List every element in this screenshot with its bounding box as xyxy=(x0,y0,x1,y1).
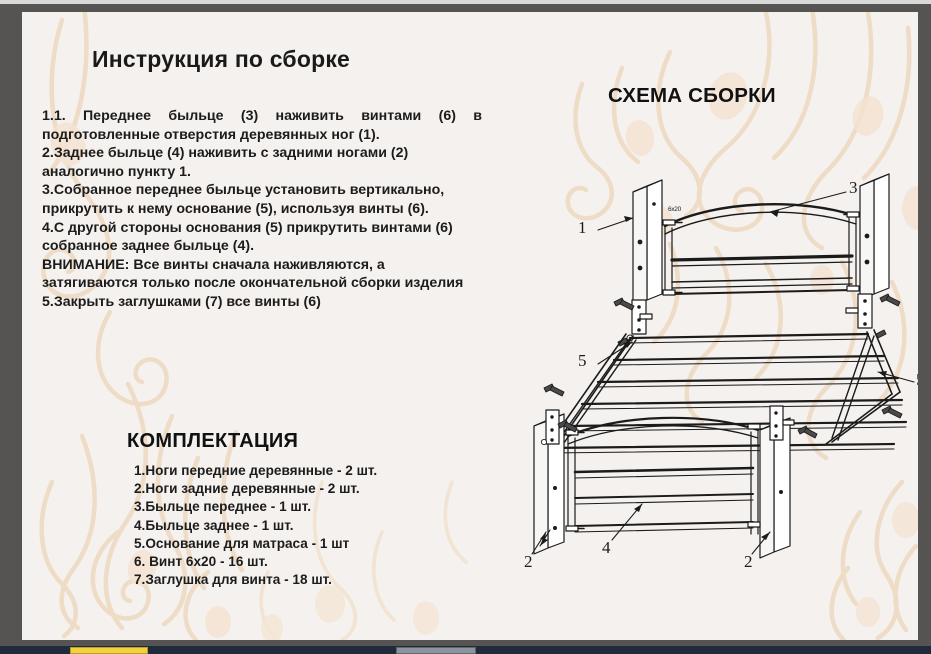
kit-item-3: 3.Быльце переднее - 1 шт. xyxy=(134,498,464,516)
base-frame-rails xyxy=(546,334,874,460)
callout-2-left: 2 xyxy=(524,552,533,572)
callout-leader-lines xyxy=(532,192,914,554)
kit-section-title: КОМПЛЕКТАЦИЯ xyxy=(127,430,298,453)
instruction-step-5: 5.Закрыть заглушками (7) все винты (6) xyxy=(42,293,482,312)
screen: Инструкция по сборке 1.1. Переднее быльц… xyxy=(0,0,931,654)
taskbar[interactable] xyxy=(0,646,931,654)
kit-item-1: 1.Ноги передние деревянные - 2 шт. xyxy=(134,462,464,480)
bracket-plate-head-right xyxy=(846,294,872,328)
headboard-panel-front xyxy=(665,204,856,294)
assembly-diagram: 1 3 5 5 2 4 2 6x20 xyxy=(502,142,918,562)
instruction-step-4: 4.С другой стороны основания (5) прикрут… xyxy=(42,219,482,256)
taskbar-item-window[interactable] xyxy=(396,647,476,654)
bed-assembly-drawing xyxy=(502,142,918,562)
leg-post-rear-right xyxy=(860,174,889,300)
kit-list: 1.Ноги передние деревянные - 2 шт. 2.Ног… xyxy=(134,462,464,589)
slide-page: Инструкция по сборке 1.1. Переднее быльц… xyxy=(22,12,918,640)
instruction-step-3: 3.Собранное переднее быльце установить в… xyxy=(42,181,482,218)
instructions-block: 1.1. Переднее быльце (3) наживить винтам… xyxy=(42,107,482,312)
kit-item-4: 4.Быльце заднее - 1 шт. xyxy=(134,517,464,535)
kit-item-5: 5.Основание для матраса - 1 шт xyxy=(134,535,464,553)
instruction-step-1: 1.1. Переднее быльце (3) наживить винтам… xyxy=(42,107,482,144)
footboard-panel xyxy=(568,418,758,534)
callout-3: 3 xyxy=(849,178,858,198)
instruction-step-2: 2.Заднее быльце (4) наживить с задними н… xyxy=(42,144,482,181)
kit-item-2: 2.Ноги задние деревянные - 2 шт. xyxy=(134,480,464,498)
callout-5-right: 5 xyxy=(916,370,918,390)
callout-1: 1 xyxy=(578,218,587,238)
callout-2-right: 2 xyxy=(744,552,753,572)
taskbar-item-active[interactable] xyxy=(70,647,148,654)
bracket-plate-head-left xyxy=(632,300,652,334)
screw-size-label: 6x20 xyxy=(668,206,681,213)
scheme-title: СХЕМА СБОРКИ xyxy=(608,84,776,108)
kit-item-7: 7.Заглушка для винта - 18 шт. xyxy=(134,571,464,589)
instruction-warning: ВНИМАНИЕ: Все винты сначала наживляются,… xyxy=(42,256,482,293)
screw-fitting-headboard xyxy=(663,212,859,295)
callout-5-left: 5 xyxy=(578,351,587,371)
leg-post-rear-left xyxy=(633,180,662,306)
screw-loose-head-right xyxy=(876,294,900,338)
callout-4: 4 xyxy=(602,538,611,558)
bracket-plate-foot-left xyxy=(546,410,559,444)
kit-item-6: 6. Винт 6х20 - 16 шт. xyxy=(134,553,464,571)
page-title: Инструкция по сборке xyxy=(92,46,432,73)
